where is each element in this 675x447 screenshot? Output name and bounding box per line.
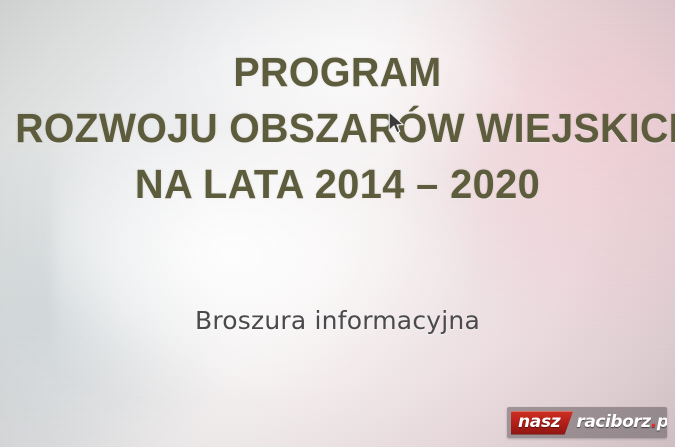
screenshot-stage: PROGRAM ROZWOJU OBSZARÓW WIEJSKICH NA LA… [0,0,675,447]
watermark-site-main: raciborz [576,412,650,432]
watermark-site-tld: pl [657,412,667,432]
slide-headline: PROGRAM ROZWOJU OBSZARÓW WIEJSKICH NA LA… [0,52,675,205]
slide-subtitle: Broszura informacyjna [0,306,675,335]
watermark-brand-text: nasz [518,414,560,431]
watermark-brand-box: nasz [511,411,573,435]
headline-line-1: PROGRAM [14,52,662,94]
headline-line-2: ROZWOJU OBSZARÓW WIEJSKICH [15,108,660,150]
headline-line-3: NA LATA 2014 – 2020 [10,164,665,206]
watermark-logo: nasz raciborz.pl [507,407,667,438]
watermark-site-text: raciborz.pl [576,414,667,431]
